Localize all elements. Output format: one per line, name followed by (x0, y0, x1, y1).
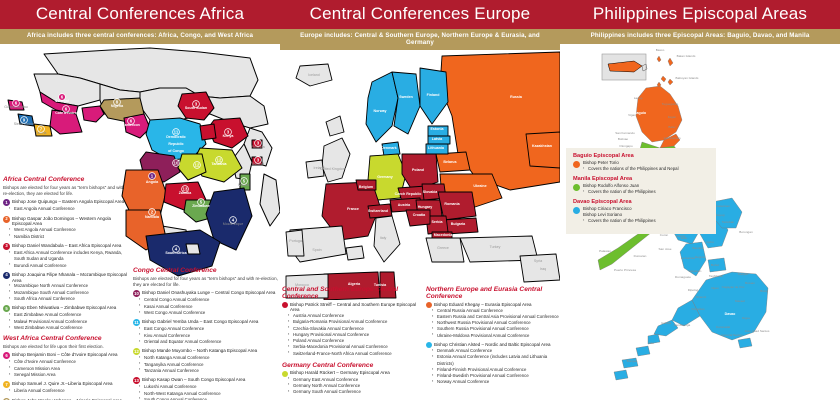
map-label: Koronadal (716, 325, 730, 329)
map-label: Bulgaria (451, 222, 466, 226)
conference-item: South Africa Annual Conference (3, 296, 128, 302)
map-label: Tuguegarao (662, 102, 679, 106)
legend-note: Bishops are elected for four years as “t… (133, 276, 279, 288)
legend-title: Central and Southern Europe Central Conf… (282, 286, 422, 300)
map-label: France (347, 207, 359, 211)
bishop-name: Bishop Gaspar João Domingos – Western An… (12, 216, 128, 228)
conference-item: Namibia District (3, 234, 128, 240)
map-label: Palawan (599, 249, 611, 253)
legend-title: Africa Central Conference (3, 176, 128, 183)
conference-item: Burundi Annual Conference (3, 263, 128, 269)
episcopal-area-row: Bishop Peter TorioCovers the nations of … (573, 160, 710, 172)
conference-item: Germany South Annual Conference (282, 389, 422, 395)
map-label: Bongao (627, 359, 638, 363)
conference-item: Ukraine-Moldova Provisional Annual Confe… (426, 333, 560, 339)
legend-group: 10Bishop Daniel Onashuyaka Lunge – Centr… (133, 290, 279, 316)
map-label: Surigao (738, 272, 749, 276)
map-label: Norway (374, 109, 387, 113)
philippines-legend-list: Baguio Episcopal AreaBishop Peter TorioC… (573, 153, 710, 224)
map-label: Cagayan de Oro (722, 285, 745, 289)
legend-marker-icon[interactable] (282, 302, 288, 308)
map-label: Zamboanga (674, 323, 691, 327)
legend-block-west-africa: West Africa Central ConferenceBishops ar… (3, 335, 128, 400)
map-label: Romania (444, 202, 460, 206)
bishop-name: Bishop Gabriel Yemba Unda – East Congo E… (142, 319, 258, 325)
legend-title: Northern Europe and Eurasia Central Conf… (426, 286, 560, 300)
map-label: Bacolod (692, 246, 703, 250)
conference-item: West Zimbabwe Annual Conference (3, 325, 128, 331)
europe-subtitle: Europe includes: Central & Southern Euro… (280, 29, 560, 51)
map-label: Lithuania (428, 146, 445, 150)
map-label: Switzerland (368, 209, 388, 213)
legend-block-central-southern: Central and Southern Europe Central Conf… (282, 286, 422, 357)
map-label: Republic (168, 142, 183, 146)
map-pin[interactable]: 3 (225, 128, 232, 135)
bishop-name: Bishop Joaquina Filipe Nhanala – Mozambi… (12, 272, 128, 284)
map-pin[interactable]: 12 (216, 156, 223, 163)
africa-legend-left: Africa Central ConferenceBishops are ele… (3, 176, 128, 400)
map-pin[interactable]: 7 (38, 125, 45, 132)
africa-legend-right: Congo Central ConferenceBishops are elec… (133, 267, 279, 400)
legend-group: Bishop Christian Alsted – Nordic and Bal… (426, 342, 560, 386)
map-label: Jolo (648, 341, 654, 345)
area-marker-icon[interactable] (573, 161, 580, 168)
panel-africa: Central Conferences Africa Africa includ… (0, 0, 280, 400)
map-pin[interactable]: 12 (194, 161, 201, 168)
legend-group: 2Bishop Gaspar João Domingos – Western A… (3, 216, 128, 240)
coverage-item: Covers the nations of the Philippines an… (583, 166, 679, 172)
legend-title: West Africa Central Conference (3, 335, 128, 342)
legend-marker-icon[interactable]: 4 (3, 272, 10, 279)
map-label: Tagbilaran (709, 274, 724, 278)
panel-philippines: Philippines Episcopal Areas Philippines … (560, 0, 840, 400)
conference-item: Estonia Annual Conference (includes Latv… (426, 354, 560, 366)
map-label: Poland (412, 168, 424, 172)
legend-group: 1Bishop Jose Quipungo – Eastern Angola E… (3, 199, 128, 213)
conference-item: Switzerland-France-North Africa Annual C… (282, 351, 422, 357)
legend-group: Bishop Patrick Streiff – Central and Sou… (282, 302, 422, 357)
map-label: Russia (510, 95, 523, 99)
map-label: Pagadian (691, 307, 704, 311)
area-marker-icon[interactable] (573, 207, 580, 214)
map-label: Kazakhstan (532, 144, 552, 148)
map-label: Babuyan Islands (676, 76, 699, 80)
map-label: Bohol (711, 263, 719, 267)
map-label: Dumaran (634, 254, 647, 258)
map-pin[interactable]: 4 (230, 216, 237, 223)
map-label: Ozamiz (696, 295, 707, 299)
map-label: 11 (174, 129, 179, 134)
map-label: Batan Islands (677, 54, 696, 58)
map-label: Angola (146, 180, 159, 184)
legend-title: Congo Central Conference (133, 267, 279, 274)
legend-group: 7Bishop Samuel J. Quire Jr.–Liberia Epis… (3, 381, 128, 395)
legend-block-africa-central: Africa Central ConferenceBishops are ele… (3, 176, 128, 331)
conference-item: Senegal Mission Area (3, 372, 128, 378)
conference-item: Tanzania Annual Conference (133, 368, 279, 374)
conference-item: Liberia Annual Conference (3, 388, 128, 394)
conference-item: West Congo Annual Conference (133, 310, 279, 316)
map-label: San Fernando (615, 131, 635, 135)
map-label: Jose Abad Santos (745, 329, 770, 333)
legend-group: 5Bishop Eben Nhiwatiwa – Zimbabwe Episco… (3, 305, 128, 331)
map-pin[interactable]: 6 (128, 117, 135, 124)
map-label: Spain (312, 248, 321, 252)
legend-block-northern-eurasia: Northern Europe and Eurasia Central Conf… (426, 286, 560, 386)
map-pin[interactable]: 11 (173, 128, 180, 135)
map-label: Vigan (628, 113, 636, 117)
map-label: Puerto Princesa (614, 268, 636, 272)
bishop-name: Bishop Jose Quipungo – Eastern Angola Ep… (12, 199, 124, 205)
legend-group: 6Bishop Benjamin Boni – Côte d’Ivoire Ep… (3, 352, 128, 378)
map-label: Czech Republic (395, 192, 422, 196)
conference-item: East Africa Annual Conference includes K… (3, 250, 128, 262)
bishop-name: Bishop Daniel Onashuyaka Lunge – Central… (142, 290, 275, 296)
map-label: Cabanatuan (664, 136, 681, 140)
area-marker-icon[interactable] (573, 184, 580, 191)
legend-group: 4Bishop Joaquina Filipe Nhanala – Mozamb… (3, 272, 128, 302)
map-label: Baler (668, 125, 675, 129)
episcopal-area-title: Davao Episcopal Area (573, 199, 710, 205)
map-label: Greece (437, 246, 449, 250)
bishop-name: Bishop Benjamin Boni – Côte d’Ivoire Epi… (12, 352, 118, 358)
map-label: Isabela (661, 321, 671, 325)
africa-subtitle: Africa includes three central conference… (0, 29, 280, 44)
map-pin[interactable]: 6 (63, 105, 70, 112)
map-label: Bolinao (618, 137, 629, 141)
map-pin[interactable]: 3 (255, 156, 262, 163)
map-label: Marawi (735, 299, 745, 303)
map-pin[interactable]: 6 (59, 93, 66, 100)
map-pin[interactable]: 3 (255, 139, 262, 146)
map-label: Austria (398, 203, 411, 207)
map-label: Laoag (634, 96, 643, 100)
philippines-title: Philippines Episcopal Areas (560, 0, 840, 29)
map-label: Catarman (716, 204, 730, 208)
bishop-name: Bishop Patrick Streiff – Central and Sou… (290, 302, 422, 314)
legend-marker-icon[interactable]: 2 (3, 216, 10, 223)
bishop-name: Bishop Daniel Wandabula – East Africa Ep… (12, 243, 121, 249)
legend-title: Germany Central Conference (282, 362, 422, 369)
bishop-name: Bishop Harald Rückert – Germany Episcopa… (290, 370, 390, 376)
map-label: San Jose (659, 247, 672, 251)
map-label: United Kingdom (320, 167, 346, 171)
philippines-subtitle: Philippines includes three Episcopal Are… (560, 29, 840, 44)
map-label: Germany (377, 175, 393, 179)
legend-note: Bishops are elected for life upon their … (3, 344, 128, 350)
map-label: La Carlota (681, 256, 696, 260)
map-label: Belgium (359, 185, 373, 189)
map-label: Dumaguete (675, 275, 691, 279)
map-label: Bayawan (689, 269, 702, 273)
legend-group: Bishop Eduard Khegay – Eurasia Episcopal… (426, 302, 560, 339)
map-label: Macedonia (434, 233, 454, 237)
map-label: Slovakia (423, 190, 439, 194)
legend-group: 13Bishop Kasap Owan – South Congo Episco… (133, 377, 279, 400)
map-label: Panay (677, 234, 686, 238)
map-label: Dipolog (688, 288, 699, 292)
map-label: Estonia (431, 127, 445, 131)
map-label: Tacloban (722, 220, 735, 224)
central-conferences-board: Central Conferences Africa Africa includ… (0, 0, 840, 400)
map-pin[interactable]: 10 (173, 159, 180, 166)
map-label: Portugal (289, 239, 303, 243)
panel-europe: Central Conferences Europe Europe includ… (280, 0, 560, 400)
map-pin[interactable]: 9 (21, 116, 28, 123)
conference-item: East Angola Annual Conference (3, 206, 128, 212)
map-label: Borongan (739, 230, 753, 234)
map-label: 10 (174, 160, 179, 165)
map-label: Sweden (399, 95, 413, 99)
legend-block-congo: Congo Central ConferenceBishops are elec… (133, 267, 279, 400)
bishop-name: Bishop Eben Nhiwatiwa – Zimbabwe Episcop… (12, 305, 116, 311)
europe-title: Central Conferences Europe (280, 0, 560, 29)
map-label: Iraq (540, 267, 546, 271)
europe-legend-left: Central and Southern Europe Central Conf… (282, 286, 422, 398)
legend-group: 3Bishop Daniel Wandabula – East Africa E… (3, 243, 128, 269)
map-pin[interactable]: 2 (149, 208, 156, 215)
map-label: Serbia (432, 220, 444, 224)
map-label: Basco (656, 48, 665, 52)
map-pin[interactable]: 13 (182, 185, 189, 192)
map-pin[interactable]: 8 (114, 98, 121, 105)
map-label: Ilagan (668, 115, 677, 119)
philippines-legend: Baguio Episcopal AreaBishop Peter TorioC… (566, 148, 716, 234)
map-pin[interactable]: 5 (198, 198, 205, 205)
bishop-name: Bishop Mande Muyombo – North Katanga Epi… (142, 348, 257, 354)
map-pin[interactable]: 6 (13, 99, 20, 106)
map-label: Italy (380, 236, 387, 240)
legend-group: 12Bishop Mande Muyombo – North Katanga E… (133, 348, 279, 374)
bishop-name: Bishop Christian Alsted – Nordic and Bal… (434, 342, 551, 348)
map-label: of Congo (168, 149, 185, 153)
map-label: Latvia (432, 137, 443, 141)
map-label: Butuan (745, 281, 755, 285)
episcopal-area-row: Bishop Rodolfo Alfonso JuanCovers the na… (573, 183, 710, 195)
map-pin[interactable]: 4 (173, 245, 180, 252)
coverage-item: Covers the nation of the Philippines (583, 218, 656, 224)
map-label: Hungary (418, 205, 433, 209)
map-pin[interactable]: 5 (241, 177, 248, 184)
conference-item: Norway Annual Conference (426, 379, 560, 385)
map-label: Syria (534, 259, 542, 263)
map-label: Belarus (443, 160, 456, 164)
map-label: 12 (217, 157, 222, 162)
legend-block-germany: Germany Central ConferenceBishop Harald … (282, 362, 422, 395)
episcopal-area-row: Bishop Ciriaco FranciscoBishop Levi Sori… (573, 206, 710, 224)
map-label: Croatia (413, 213, 426, 217)
bishop-name: Bishop Samuel J. Quire Jr.–Liberia Episc… (12, 381, 113, 387)
map-label: 12 (195, 162, 200, 167)
bishop-name: Bishop Eduard Khegay – Eurasia Episcopal… (434, 302, 532, 308)
map-label: Digos (742, 316, 750, 320)
map-label: Bislig (760, 289, 768, 293)
bishop-name: Bishop Kasap Owan – South Congo Episcopa… (142, 377, 245, 383)
europe-legend-right: Northern Europe and Eurasia Central Conf… (426, 286, 560, 389)
map-label: Iligan (711, 286, 719, 290)
map-label: Finland (427, 93, 440, 97)
map-label: Denmark (381, 146, 396, 150)
map-label: Davao (725, 312, 737, 316)
map-label: General Santos (721, 333, 743, 337)
map-pin[interactable]: 1 (149, 172, 156, 179)
legend-group: Bishop Harald Rückert – Germany Episcopa… (282, 370, 422, 395)
legend-group: 11Bishop Gabriel Yemba Unda – East Congo… (133, 319, 279, 345)
legend-note: Bishops are elected for four years as “t… (3, 185, 128, 197)
africa-title: Central Conferences Africa (0, 0, 280, 29)
map-label: Iceland (308, 73, 320, 77)
coverage-item: Covers the nation of the Philippines (583, 189, 656, 195)
map-label: Ukraine (473, 184, 486, 188)
europe-map[interactable]: IcelandNorwaySwedenFinlandRussiaEstoniaL… (280, 50, 560, 300)
map-label: 13 (183, 186, 188, 191)
episcopal-area-title: Baguio Episcopal Area (573, 153, 710, 159)
map-label: Turkey (490, 245, 501, 249)
map-label: Negros (695, 255, 705, 259)
map-label: Cebu (706, 240, 714, 244)
conference-item: Oriental and Equator Annual Conference (133, 339, 279, 345)
episcopal-area-title: Manila Episcopal Area (573, 176, 710, 182)
map-pin[interactable]: 3 (193, 100, 200, 107)
